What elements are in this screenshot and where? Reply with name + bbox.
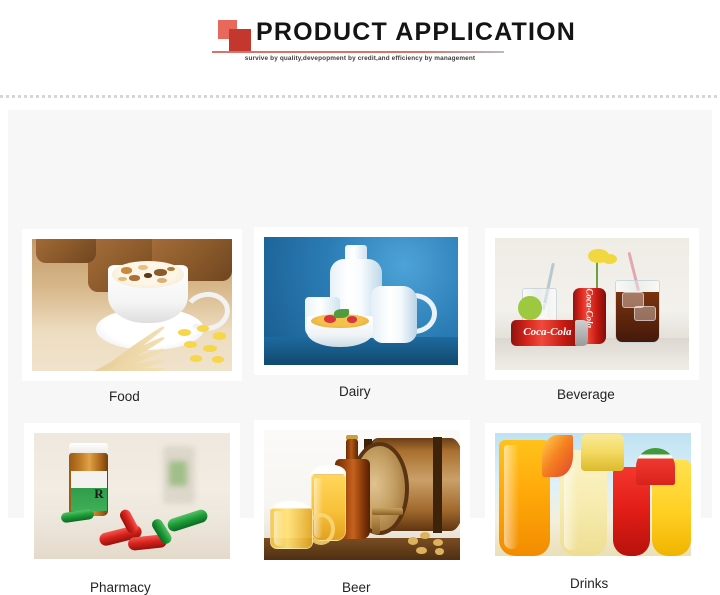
product-card-drinks[interactable]	[485, 423, 701, 566]
product-application-grid: Food Dairy	[8, 110, 712, 518]
product-card-beer[interactable]	[254, 420, 470, 570]
page-title: PRODUCT APPLICATION	[256, 16, 576, 48]
coke-can-label-upright: Coca-Cola	[584, 289, 594, 322]
product-card-pharmacy[interactable]: R	[24, 423, 240, 569]
product-card-label-pharmacy: Pharmacy	[90, 580, 151, 595]
product-card-food[interactable]	[22, 229, 242, 381]
product-card-dairy[interactable]	[254, 227, 468, 375]
coke-can-label-lying: Coca-Cola	[511, 326, 585, 338]
page-header: PRODUCT APPLICATION survive by quality,d…	[0, 0, 720, 96]
section-divider	[0, 95, 720, 98]
beverage-photo: Coca-Cola Coca-Cola	[495, 238, 689, 370]
product-card-label-food: Food	[109, 389, 140, 404]
product-card-beverage[interactable]: Coca-Cola Coca-Cola	[485, 228, 699, 380]
product-card-label-dairy: Dairy	[339, 384, 371, 399]
logo-square-dark-icon	[229, 29, 251, 51]
prescription-rx-icon: R	[94, 486, 103, 502]
product-card-label-drinks: Drinks	[570, 576, 608, 591]
product-card-label-beer: Beer	[342, 580, 371, 595]
dairy-photo	[264, 237, 458, 365]
brand-logo-block: PRODUCT APPLICATION survive by quality,d…	[210, 16, 510, 74]
pharmacy-photo: R	[34, 433, 230, 559]
title-underline-rule	[212, 51, 504, 53]
two-squares-logo-icon	[218, 20, 252, 52]
beer-photo	[264, 430, 460, 560]
drinks-photo	[495, 433, 691, 556]
page-subtitle: survive by quality,devepopment by credit…	[210, 55, 510, 62]
product-card-label-beverage: Beverage	[557, 387, 615, 402]
food-photo	[32, 239, 232, 371]
